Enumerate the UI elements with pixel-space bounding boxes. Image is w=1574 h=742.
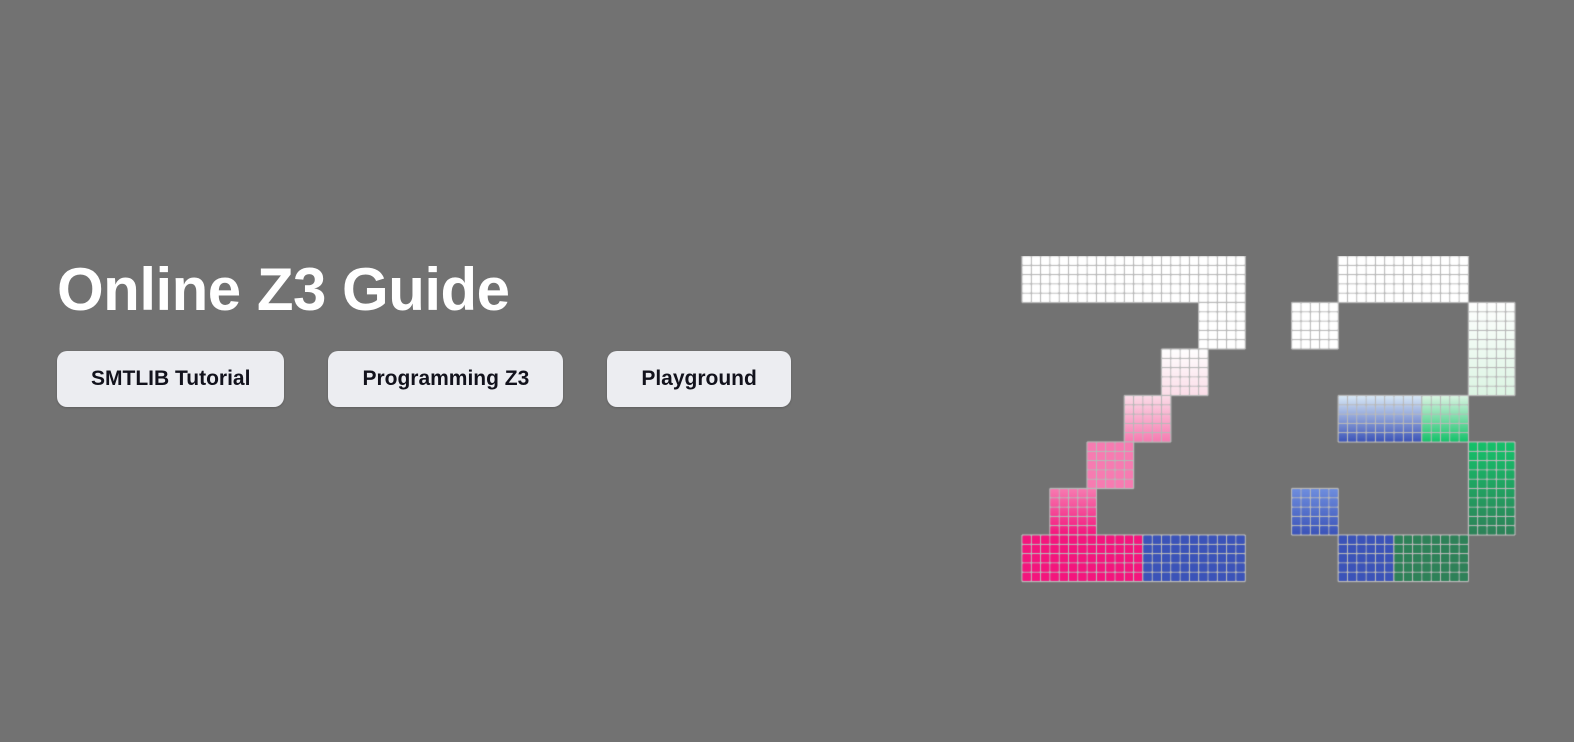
cta-button-row: SMTLIB Tutorial Programming Z3 Playgroun… xyxy=(57,351,957,407)
smtlib-tutorial-button[interactable]: SMTLIB Tutorial xyxy=(57,351,284,407)
playground-button[interactable]: Playground xyxy=(607,351,791,407)
page-title: Online Z3 Guide xyxy=(57,256,957,323)
z3-pixel-logo xyxy=(1016,256,1528,588)
hero-text-column: Online Z3 Guide SMTLIB Tutorial Programm… xyxy=(57,256,957,407)
hero-section: Online Z3 Guide SMTLIB Tutorial Programm… xyxy=(0,0,1574,742)
programming-z3-button[interactable]: Programming Z3 xyxy=(328,351,563,407)
z3-pixel-logo-canvas xyxy=(1016,256,1528,588)
